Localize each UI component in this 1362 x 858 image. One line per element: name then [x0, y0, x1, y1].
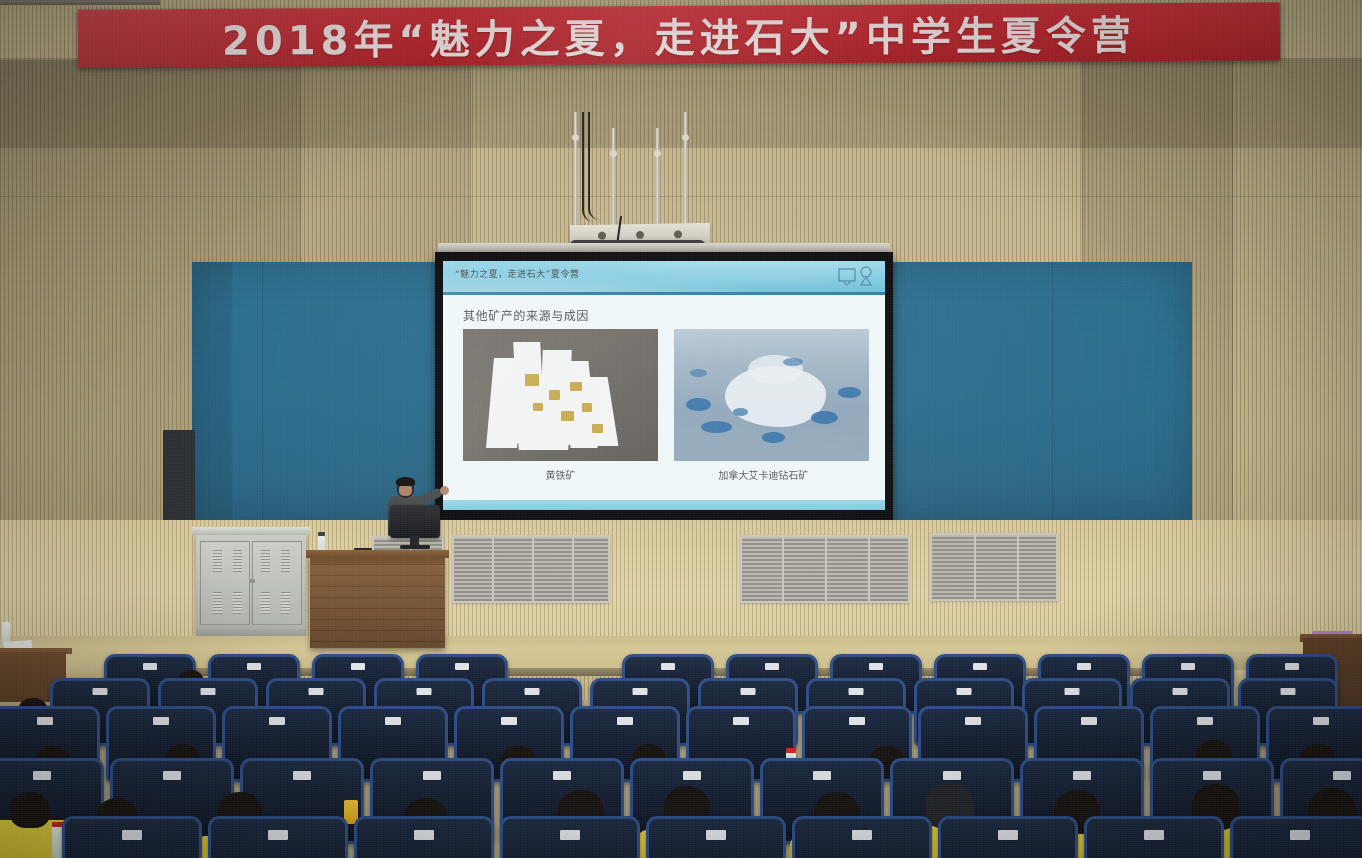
projector-support-rod-3	[656, 128, 659, 230]
slide-caption-row: 黄铁矿 加拿大艾卡迪钻石矿	[463, 467, 869, 482]
projection-screen: “魅力之夏，走进石大”夏令营 其他矿产的来源与成因	[435, 252, 893, 520]
podium-wood-grain	[310, 564, 445, 648]
cabinet-door-left[interactable]	[200, 541, 250, 625]
rod-knob-2	[610, 150, 617, 157]
auditorium-seat[interactable]	[208, 816, 348, 858]
blue-backdrop-shadow	[192, 262, 232, 522]
caption-pyrite: 黄铁矿	[463, 467, 658, 482]
audience-head	[10, 792, 50, 828]
rod-knob-3	[654, 150, 661, 157]
cabinet-door-right[interactable]	[252, 541, 302, 625]
auditorium-photo: 2018年“魅力之夏，走进石大”中学生夏令营	[0, 0, 1362, 858]
event-banner: 2018年“魅力之夏，走进石大”中学生夏令营	[78, 2, 1280, 67]
projector-support-rod-2	[612, 128, 615, 230]
auditorium-seat[interactable]	[646, 816, 786, 858]
projector-support-rod-1	[574, 112, 577, 230]
cabinet-handle[interactable]	[249, 579, 255, 583]
rod-knob-4	[682, 134, 689, 141]
wall-dark-recess	[163, 430, 195, 525]
slide-header-underline	[443, 292, 885, 295]
grey-equipment-cabinet	[196, 533, 306, 641]
auditorium-seat[interactable]	[354, 816, 494, 858]
wooden-podium-desk	[310, 556, 445, 648]
ceiling-projector-assembly	[560, 112, 720, 262]
diamond-mine-aerial-photo	[674, 329, 869, 461]
banner-rail	[0, 0, 160, 5]
audience-seating-area	[0, 640, 1362, 858]
slide-image-row	[463, 329, 869, 461]
wall-vent-grille	[930, 533, 1058, 601]
cabinet-top	[192, 527, 310, 535]
wall-vent-grille	[452, 535, 610, 603]
auditorium-seat[interactable]	[938, 816, 1078, 858]
presentation-slide: “魅力之夏，走进石大”夏令营 其他矿产的来源与成因	[443, 261, 885, 510]
presenter-hair	[396, 477, 415, 486]
wall-vent-grille	[740, 535, 910, 603]
podium-top-surface	[306, 550, 449, 558]
presenter-monitor	[390, 505, 440, 538]
auditorium-seat[interactable]	[1084, 816, 1224, 858]
caption-diamond-mine: 加拿大艾卡迪钻石矿	[658, 467, 869, 482]
presenter-hand	[440, 486, 449, 495]
wall-seam-2	[470, 58, 471, 258]
bottle-cap	[318, 532, 325, 536]
slide-title: 其他矿产的来源与成因	[463, 307, 589, 324]
rod-knob-1	[572, 134, 579, 141]
university-logo-icon	[835, 263, 879, 293]
pyrite-specimen-photo	[463, 329, 658, 461]
auditorium-seat[interactable]	[500, 816, 640, 858]
projector-cable-2	[588, 112, 600, 220]
auditorium-seat[interactable]	[792, 816, 932, 858]
auditorium-seat[interactable]	[1230, 816, 1362, 858]
slide-footer-band	[443, 500, 885, 510]
event-banner-text: 2018年“魅力之夏，走进石大”中学生夏令营	[222, 3, 1136, 67]
auditorium-seat[interactable]	[62, 816, 202, 858]
monitor-base	[400, 545, 430, 549]
slide-header-band: “魅力之夏，走进石大”夏令营	[443, 261, 885, 295]
slide-header-text: “魅力之夏，走进石大”夏令营	[455, 267, 579, 280]
